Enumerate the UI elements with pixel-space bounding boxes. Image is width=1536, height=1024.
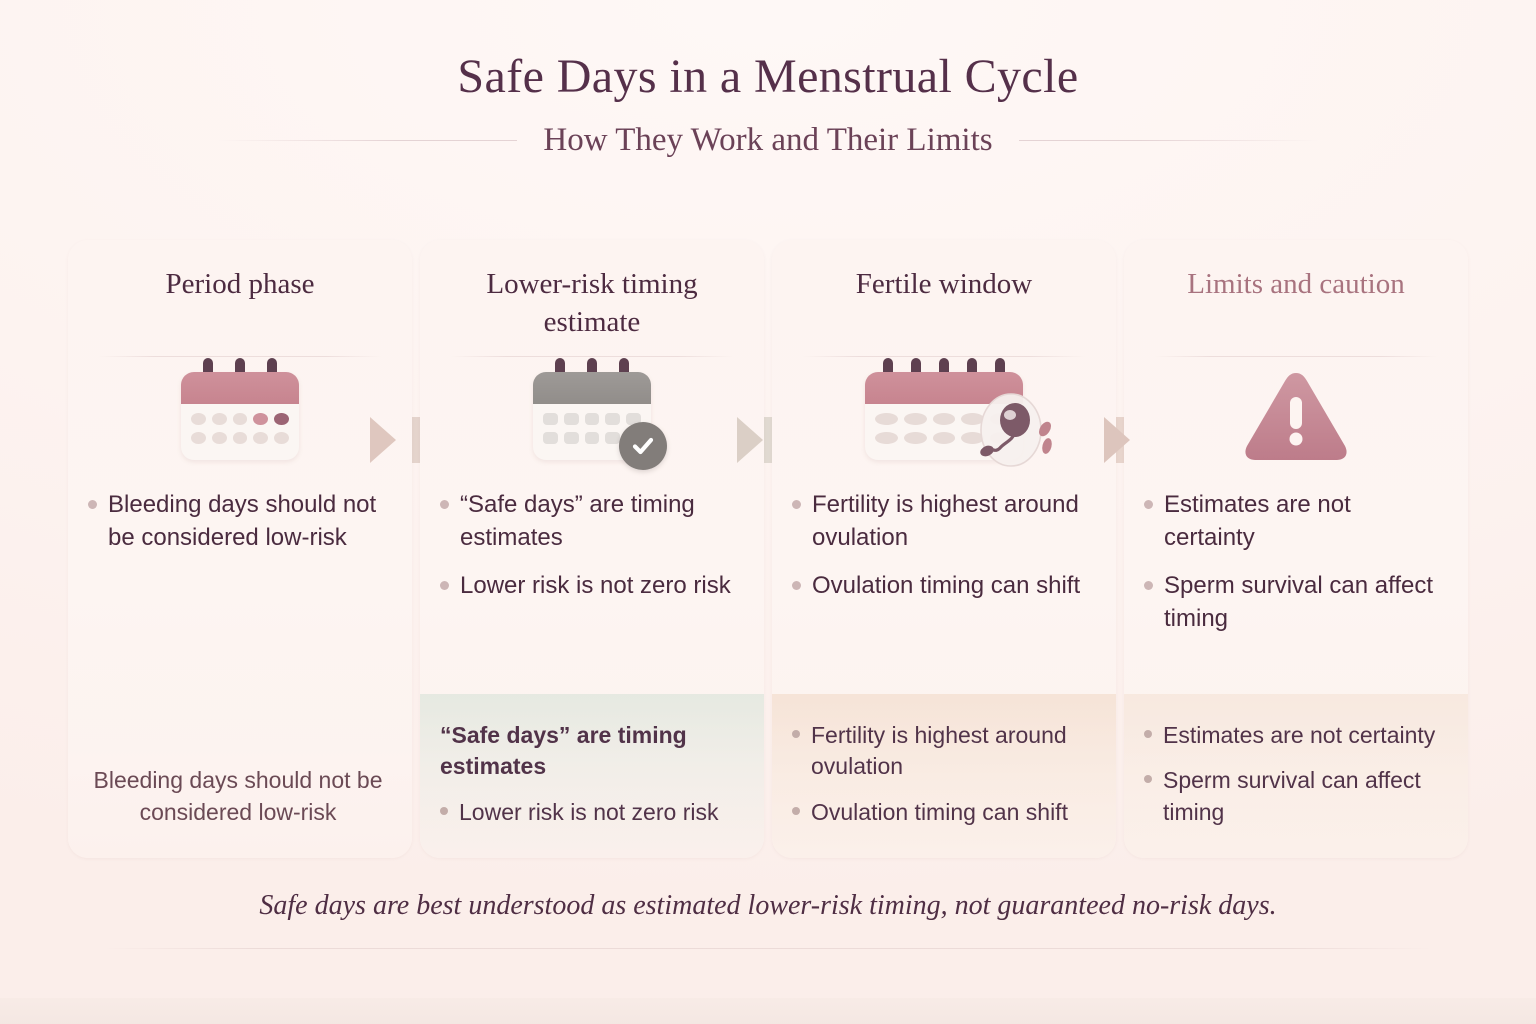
bullet-item: Estimates are not certainty [1144,489,1444,554]
card-bullets: “Safe days” are timing estimates Lower r… [420,475,764,603]
calendar-gray-check-icon [533,372,651,460]
flow-arrowhead-3-icon [1102,399,1142,481]
card-limits-and-caution[interactable]: Limits and caution [1124,240,1468,858]
card-icon-zone [772,357,1116,475]
card-icon-zone [1124,357,1468,475]
page-subtitle: How They Work and Their Limits [543,122,992,159]
infographic-canvas: Safe Days in a Menstrual Cycle How They … [0,0,1536,1024]
bullet-text: Sperm survival can affect timing [1164,570,1444,635]
card-title: Limits and caution [1150,266,1442,344]
bullet-dot-icon [1144,730,1152,738]
bullet-dot-icon [792,807,800,815]
echo-item: Fertility is highest around ovulation [792,720,1092,783]
subtitle-row: How They Work and Their Limits [0,122,1536,159]
bullet-text: Estimates are not certainty [1164,489,1444,554]
card-echo-band: Fertility is highest around ovulation Ov… [772,694,1116,858]
bullet-dot-icon [792,500,801,509]
bullet-dot-icon [440,500,449,509]
card-icon-zone [420,357,764,475]
echo-text: Sperm survival can affect timing [1163,765,1444,828]
echo-text: Fertility is highest around ovulation [811,720,1092,783]
egg-sperm-icon [975,386,1057,472]
bullet-text: Ovulation timing can shift [812,570,1080,603]
echo-item: Bleeding days should not be considered l… [88,765,388,828]
echo-text: Ovulation timing can shift [811,797,1068,828]
calendar-ovulation-icon [865,372,1023,460]
card-bullets: Estimates are not certainty Sperm surviv… [1124,475,1468,636]
card-echo-band: “Safe days” are timing estimates Lower r… [420,694,764,858]
card-title: Lower-risk timing estimate [446,266,738,344]
card-period-phase[interactable]: Period phase [68,240,412,858]
page-title: Safe Days in a Menstrual Cycle [0,52,1536,102]
bullet-dot-icon [88,500,97,509]
bullet-item: “Safe days” are timing estimates [440,489,740,554]
bullet-item: Sperm survival can affect timing [1144,570,1444,635]
warning-triangle-icon [1241,367,1351,465]
bullet-item: Ovulation timing can shift [792,570,1092,603]
bullet-item: Bleeding days should not be considered l… [88,489,388,554]
bullet-text: “Safe days” are timing estimates [460,489,740,554]
flow-arrowhead-1-icon [368,399,408,481]
echo-text: Lower risk is not zero risk [459,797,718,828]
bullet-dot-icon [792,581,801,590]
echo-text: Bleeding days should not be considered l… [88,765,388,828]
bullet-dot-icon [792,730,800,738]
card-echo-band: Estimates are not certainty Sperm surviv… [1124,694,1468,858]
card-title: Fertile window [798,266,1090,344]
cards-row: Period phase [68,240,1468,858]
subtitle-rule-left [217,140,517,141]
card-echo-band: Bleeding days should not be considered l… [68,739,412,858]
bullet-text: Bleeding days should not be considered l… [108,489,388,554]
echo-item: Sperm survival can affect timing [1144,765,1444,828]
bullet-text: Fertility is highest around ovulation [812,489,1092,554]
footer: Safe days are best understood as estimat… [0,890,1536,949]
echo-item: Estimates are not certainty [1144,720,1444,751]
header: Safe Days in a Menstrual Cycle How They … [0,52,1536,159]
card-fertile-window[interactable]: Fertile window [772,240,1116,858]
card-lower-risk-timing-estimate[interactable]: Lower-risk timing estimate [420,240,764,858]
echo-text: Estimates are not certainty [1163,720,1435,751]
echo-item: Lower risk is not zero risk [440,797,740,828]
check-badge-icon [619,422,667,470]
bullet-item: Lower risk is not zero risk [440,570,740,603]
bullet-dot-icon [1144,500,1153,509]
card-bullets: Fertility is highest around ovulation Ov… [772,475,1116,603]
echo-item: Ovulation timing can shift [792,797,1092,828]
card-bullets: Bleeding days should not be considered l… [68,475,412,554]
calendar-rose-icon [181,372,299,460]
echo-text: “Safe days” are timing estimates [440,720,740,783]
bullet-text: Lower risk is not zero risk [460,570,731,603]
card-title: Period phase [94,266,386,344]
bullet-dot-icon [1144,581,1153,590]
bullet-item: Fertility is highest around ovulation [792,489,1092,554]
card-icon-zone [68,357,412,475]
bullet-dot-icon [440,807,448,815]
bullet-dot-icon [440,581,449,590]
footer-rule [103,948,1433,949]
echo-item: “Safe days” are timing estimates [440,720,740,783]
flow-arrowhead-2-icon [735,399,775,481]
footer-note: Safe days are best understood as estimat… [0,890,1536,922]
bullet-dot-icon [1144,775,1152,783]
subtitle-rule-right [1019,140,1319,141]
